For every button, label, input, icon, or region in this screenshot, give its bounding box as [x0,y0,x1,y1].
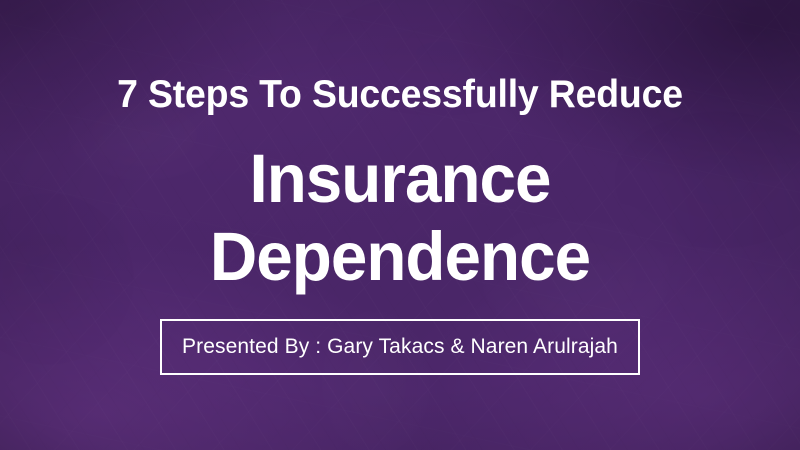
headline-main-line-1: Insurance [20,140,780,218]
presenter-credit-box: Presented By : Gary Takacs & Naren Arulr… [160,319,640,375]
headline-kicker: 7 Steps To Successfully Reduce [16,72,784,118]
headline-main-line-2: Dependence [20,218,780,296]
presenter-credit-text: Presented By : Gary Takacs & Naren Arulr… [182,335,618,359]
title-slide: 7 Steps To Successfully Reduce Insurance… [0,0,800,450]
slide-content: 7 Steps To Successfully Reduce Insurance… [0,0,800,450]
headline-group: 7 Steps To Successfully Reduce Insurance… [0,72,800,296]
